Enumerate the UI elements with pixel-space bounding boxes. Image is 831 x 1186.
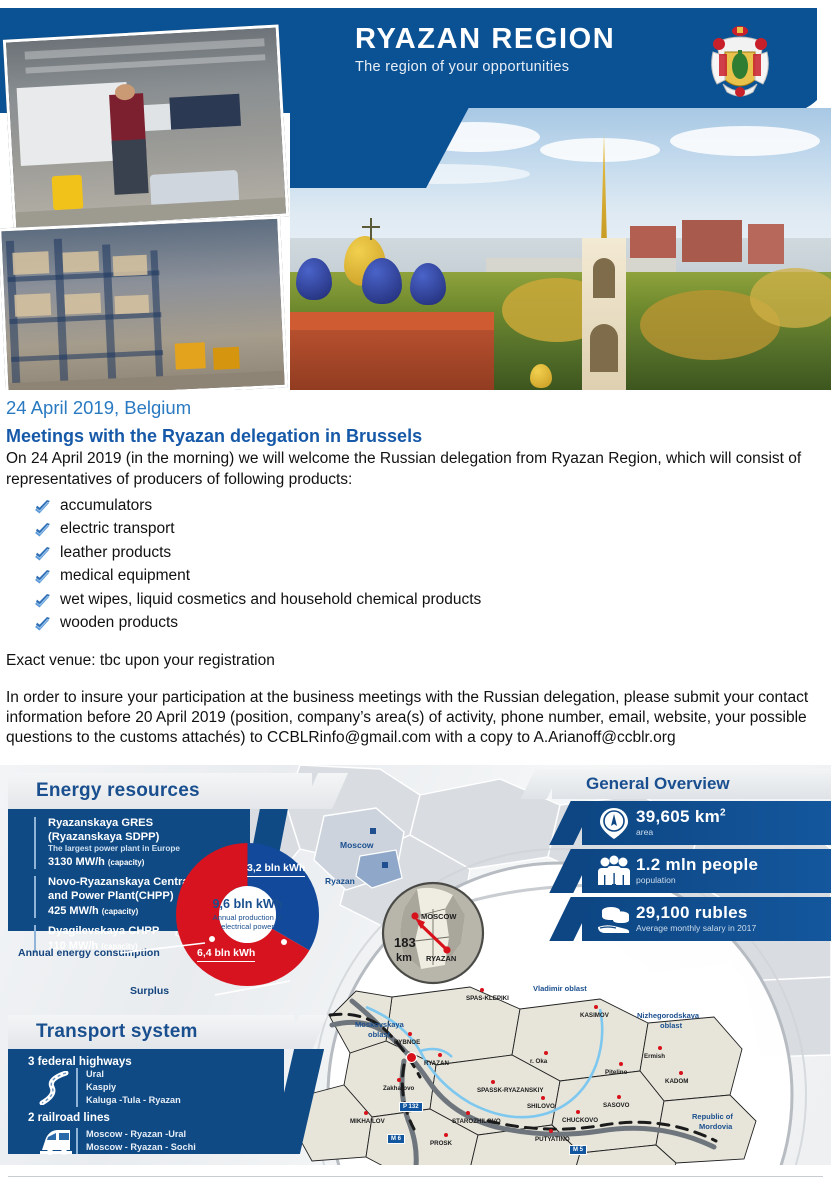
city-dot: [397, 1078, 401, 1082]
city-dot: [549, 1129, 553, 1133]
overview-row-salary: 29,100 rubles Average monthly salary in …: [582, 897, 831, 941]
winding-road-icon: [36, 1071, 76, 1105]
page-title: RYAZAN REGION: [355, 24, 615, 54]
article-body: 24 April 2019, Belgium Meetings with the…: [0, 390, 831, 748]
moscow-marker: [370, 828, 376, 834]
donut-legend-surplus: Surplus: [130, 985, 169, 997]
product-label: medical equipment: [60, 567, 190, 584]
donut-center-sub-2: electrical power: [209, 922, 287, 931]
city-building: [682, 220, 742, 262]
city-dot: [544, 1051, 548, 1055]
hero-banner: RYAZAN REGION The region of your opportu…: [0, 0, 831, 390]
article-date-location: 24 April 2019, Belgium: [0, 390, 831, 421]
forklift: [213, 347, 240, 370]
energy-panel-header: Energy resources: [8, 773, 312, 809]
highway-name: Kaspiy: [86, 1081, 181, 1094]
footer-divider: [8, 1176, 823, 1177]
pallet-box: [114, 295, 149, 315]
people-group-icon: [592, 853, 636, 889]
ryazan-capital-marker: [406, 1052, 417, 1063]
overview-row-area: 39,605 km2 area: [582, 801, 831, 845]
pallet-box: [64, 293, 101, 315]
dome-cross: [370, 218, 372, 240]
cloud-shape: [670, 126, 820, 156]
forklift: [175, 342, 206, 369]
overview-label-salary: Average monthly salary in 2017: [636, 923, 756, 934]
highway-name: Ural: [86, 1068, 181, 1081]
product-list-item: leather products: [34, 541, 831, 565]
donut-center-value: 9,6 bln kWh: [209, 897, 287, 911]
map-pin-area-icon: [592, 805, 636, 841]
overview-text-salary: 29,100 rubles Average monthly salary in …: [636, 904, 756, 934]
train-icon: [36, 1124, 76, 1158]
overview-value-sup: 2: [720, 807, 726, 818]
hand-money-icon: [592, 901, 636, 937]
dome-cross: [362, 226, 380, 228]
blue-check-swoosh-icon: [34, 498, 52, 512]
hero-title-group: RYAZAN REGION The region of your opportu…: [355, 24, 615, 75]
page-subtitle: The region of your opportunities: [355, 59, 615, 75]
city-dot: [408, 1032, 412, 1036]
hero-main-photo: [290, 108, 831, 390]
bell-tower-arch: [593, 258, 615, 298]
product-label: wet wipes, liquid cosmetics and househol…: [60, 591, 481, 608]
transport-panel-title: Transport system: [8, 1015, 294, 1049]
city-building: [630, 226, 676, 262]
donut-label-consumption-value: 6,4 bln kWh: [197, 947, 255, 962]
railroads-heading: 2 railroad lines: [8, 1107, 284, 1124]
map-context-regions: [300, 800, 490, 950]
city-dot: [576, 1110, 580, 1114]
yellow-bin: [52, 175, 84, 211]
highways-list: UralKaspiyKaluga -Tula - Ryazan: [76, 1068, 181, 1107]
energy-panel-title: Energy resources: [8, 773, 312, 809]
power-plant-name: Ryazanskaya GRES: [48, 817, 250, 831]
denim-stack: [169, 94, 241, 130]
city-dot: [658, 1046, 662, 1050]
city-dot: [679, 1071, 683, 1075]
road-shield: M 5: [569, 1145, 587, 1155]
power-plant-capacity-unit: (capacity): [102, 907, 138, 916]
blue-check-swoosh-icon: [34, 592, 52, 606]
blue-check-swoosh-icon: [34, 545, 52, 559]
product-label: electric transport: [60, 520, 175, 537]
power-plant-capacity-unit: (capacity): [108, 858, 144, 867]
blue-dome: [410, 263, 446, 305]
product-list-item: wet wipes, liquid cosmetics and househol…: [34, 588, 831, 612]
product-label: leather products: [60, 544, 171, 561]
transport-panel-body: 3 federal highways UralKaspiyKaluga -Tul…: [8, 1049, 284, 1154]
article-registration: In order to insure your participation at…: [0, 688, 831, 748]
overview-value-population: 1.2 mln people: [636, 856, 758, 874]
pallet-box: [12, 251, 49, 275]
blue-dome: [362, 258, 402, 304]
hero-photo-warehouse: [0, 216, 288, 390]
blue-check-swoosh-icon: [34, 615, 52, 629]
transport-panel-header: Transport system: [8, 1015, 294, 1049]
bell-tower-arch: [590, 324, 618, 372]
small-gold-dome: [530, 364, 552, 388]
donut-callout-dot: [209, 936, 215, 942]
railroad-name: Moscow - Ryazan - Sochi: [86, 1141, 196, 1154]
city-dot: [619, 1062, 623, 1066]
overview-panel-title: General Overview: [552, 769, 831, 799]
overview-value-area: 39,605 km2: [636, 808, 726, 826]
product-list: accumulatorselectric transportleather pr…: [0, 494, 831, 635]
city-dot: [594, 1005, 598, 1009]
kremlin-wall: [290, 326, 494, 390]
railroads-row: Moscow - Ryazan -UralMoscow - Ryazan - S…: [8, 1124, 284, 1158]
article-headline: Meetings with the Ryazan delegation in B…: [0, 421, 831, 449]
hero-photo-factory: [3, 24, 289, 231]
highways-heading: 3 federal highways: [8, 1049, 284, 1068]
svg-text:km: km: [396, 952, 412, 964]
product-label: accumulators: [60, 497, 152, 514]
city-building: [748, 224, 784, 264]
overview-value-salary: 29,100 rubles: [636, 904, 756, 922]
railroads-list: Moscow - Ryazan -UralMoscow - Ryazan - S…: [76, 1128, 196, 1154]
highway-name: Kaluga -Tula - Ryazan: [86, 1094, 181, 1107]
pallet-box: [113, 255, 148, 277]
donut-label-production: 3,2 bln kWh: [247, 862, 305, 877]
overview-label-population: population: [636, 875, 758, 886]
city-dot: [480, 988, 484, 992]
overview-row-population: 1.2 mln people population: [582, 849, 831, 893]
blue-check-swoosh-icon: [34, 521, 52, 535]
ryazan-coat-of-arms-icon: [703, 22, 777, 102]
donut-legend-annual-consumption: Annual energy consumption: [18, 947, 160, 959]
city-dot: [444, 1133, 448, 1137]
overview-text-area: 39,605 km2 area: [636, 808, 726, 838]
donut-callout-dot: [281, 939, 287, 945]
city-dot: [364, 1111, 368, 1115]
cloud-shape: [320, 134, 416, 160]
product-list-item: medical equipment: [34, 564, 831, 588]
article-venue: Exact venue: tbc upon your registration: [0, 651, 831, 671]
railroad-name: Moscow - Ryazan -Ural: [86, 1128, 196, 1141]
ryazan-marker: [382, 862, 388, 868]
product-list-item: accumulators: [34, 494, 831, 518]
overview-panel-header: General Overview: [552, 769, 831, 799]
city-dot: [617, 1095, 621, 1099]
pallet-box: [62, 251, 99, 273]
blue-check-swoosh-icon: [34, 568, 52, 582]
overview-label-area: area: [636, 827, 726, 838]
pallet-box: [14, 293, 51, 317]
cloud-shape: [540, 138, 660, 162]
product-list-item: electric transport: [34, 517, 831, 541]
product-list-item: wooden products: [34, 611, 831, 635]
overview-text-population: 1.2 mln people population: [636, 856, 758, 886]
cloud-shape: [350, 164, 530, 184]
worker-legs: [112, 139, 149, 195]
highways-row: UralKaspiyKaluga -Tula - Ryazan: [8, 1068, 284, 1107]
svg-text:RYAZAN: RYAZAN: [426, 954, 456, 963]
overview-value-text: 39,605 km: [636, 807, 720, 826]
article-intro: On 24 April 2019 (in the morning) we wil…: [0, 449, 831, 489]
donut-center-sub-1: Annual production of: [209, 913, 287, 922]
city-dot: [466, 1111, 470, 1115]
road-shield: P 132: [399, 1102, 423, 1112]
donut-center-label: 9,6 bln kWh Annual production of electri…: [209, 897, 287, 931]
spacer: [0, 671, 831, 688]
city-dot: [438, 1053, 442, 1057]
page-root: RYAZAN REGION The region of your opportu…: [0, 0, 831, 1186]
product-label: wooden products: [60, 614, 178, 631]
autumn-foliage: [750, 268, 831, 328]
road-shield: M 6: [387, 1134, 405, 1144]
city-dot: [541, 1096, 545, 1100]
blue-dome: [296, 258, 332, 300]
spacer: [0, 635, 831, 651]
city-dot: [491, 1080, 495, 1084]
kremlin-roof: [290, 312, 494, 330]
cloud-shape: [410, 122, 540, 152]
